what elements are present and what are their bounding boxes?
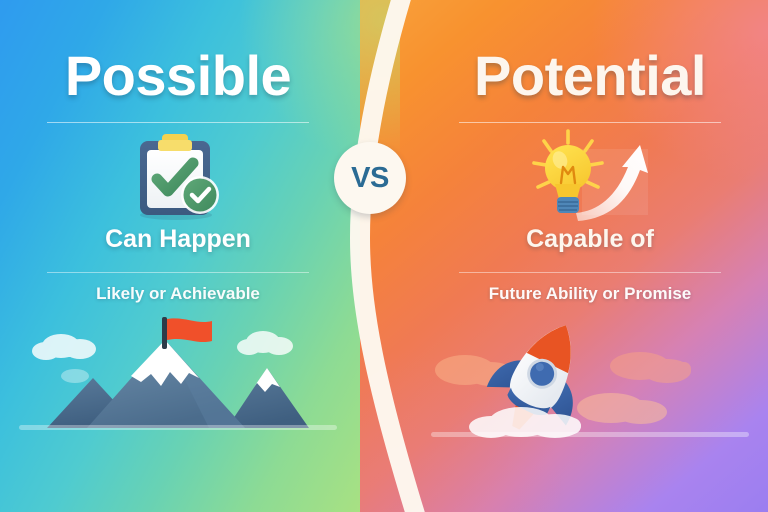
right-title-divider bbox=[459, 122, 721, 123]
right-column: Potential bbox=[420, 0, 760, 512]
left-title-divider bbox=[47, 122, 309, 123]
rocket-launch-illustration bbox=[425, 314, 755, 446]
right-caption: Future Ability or Promise bbox=[489, 284, 691, 304]
left-subtitle-divider bbox=[47, 272, 309, 273]
lightbulb-growth-arrow-icon bbox=[524, 129, 656, 221]
vs-badge: VS bbox=[334, 142, 406, 214]
mountain-flag-illustration bbox=[13, 314, 343, 446]
vs-label: VS bbox=[351, 162, 389, 195]
right-subtitle: Capable of bbox=[526, 225, 654, 254]
left-subtitle: Can Happen bbox=[105, 225, 251, 254]
left-caption: Likely or Achievable bbox=[96, 284, 260, 304]
clipboard-check-icon bbox=[124, 129, 232, 221]
comparison-infographic: Possible bbox=[0, 0, 768, 512]
left-title: Possible bbox=[65, 48, 291, 104]
left-column: Possible bbox=[8, 0, 348, 512]
right-title: Potential bbox=[474, 48, 706, 104]
right-subtitle-divider bbox=[459, 272, 721, 273]
